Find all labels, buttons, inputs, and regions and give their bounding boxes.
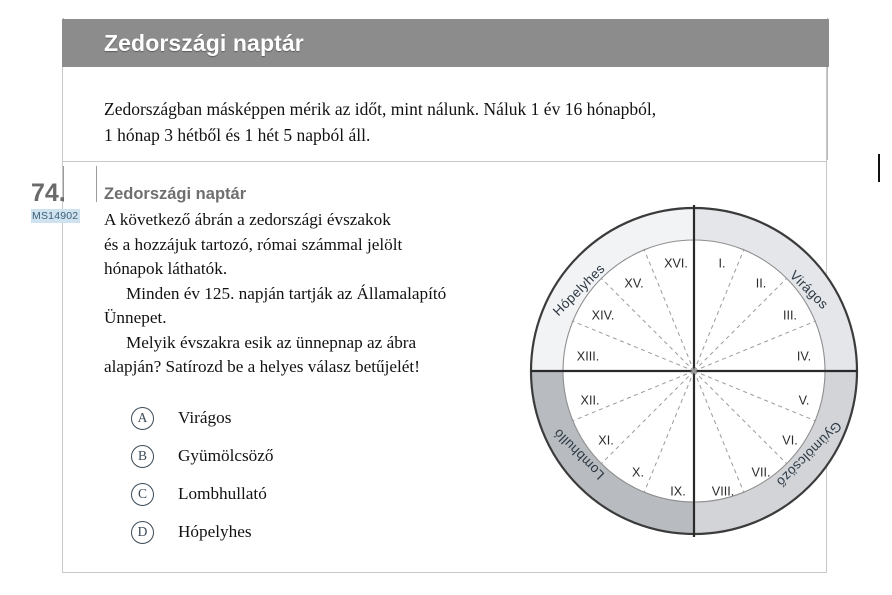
intro-line-2: 1 hónap 3 hétből és 1 hét 5 napból áll.	[104, 122, 664, 148]
worksheet-page: Zedországi naptár Zedországban másképpen…	[0, 0, 892, 595]
intro-line-1: Zedországban másképpen mérik az időt, mi…	[104, 96, 664, 122]
month-label-12: XII.	[581, 393, 600, 407]
option-label-c: Lombhullató	[178, 484, 267, 504]
task-body-line-6: Melyik évszakra esik az ünnepnap az ábra	[126, 333, 416, 352]
month-label-16: XVI.	[664, 256, 688, 270]
option-row-d[interactable]: D Hópelyhes	[131, 513, 431, 551]
month-label-8: VIII.	[712, 484, 734, 498]
month-label-15: XV.	[624, 276, 643, 290]
month-label-4: IV.	[797, 349, 811, 363]
task-body-line-7: alapján? Satírozd be a helyes válasz bet…	[104, 357, 420, 376]
answer-options: A Virágos B Gyümölcsöző C Lombhullató D …	[131, 399, 431, 551]
task-body-line-2: és a hozzájuk tartozó, római számmal jel…	[104, 235, 402, 254]
task-paragraph-3: Melyik évszakra esik az ünnepnap az ábra…	[104, 331, 524, 380]
task-body-line-3: hónapok láthatók.	[104, 259, 227, 278]
month-label-13: XIII.	[577, 349, 599, 363]
task-code-badge: MS14902	[31, 209, 80, 223]
sheet-title-bar: Zedországi naptár	[62, 19, 829, 67]
calendar-wheel-diagram: I. II. III. IV. V. VI. VII. VIII. IX. X.…	[528, 205, 860, 537]
sheet-title: Zedországi naptár	[104, 30, 304, 57]
option-bullet-a[interactable]: A	[131, 407, 154, 430]
option-bullet-b[interactable]: B	[131, 445, 154, 468]
option-bullet-c[interactable]: C	[131, 483, 154, 506]
month-label-2: II.	[756, 276, 767, 290]
month-label-1: I.	[719, 256, 726, 270]
option-label-d: Hópelyhes	[178, 522, 252, 542]
task-paragraph-2: Minden év 125. napján tartják az Államal…	[104, 282, 524, 331]
task-number-block: 74. MS14902	[31, 180, 93, 224]
task-body-line-1: A következő ábrán a zedországi évszakok	[104, 210, 391, 229]
month-label-14: XIV.	[592, 308, 615, 322]
option-label-b: Gyümölcsöző	[178, 446, 273, 466]
month-label-9: IX.	[670, 484, 685, 498]
task-body: A következő ábrán a zedországi évszakok …	[104, 208, 524, 380]
month-label-6: VI.	[782, 433, 797, 447]
task-body-line-5: Ünnepet.	[104, 308, 167, 327]
option-row-a[interactable]: A Virágos	[131, 399, 431, 437]
option-bullet-d[interactable]: D	[131, 521, 154, 544]
task-number: 74.	[31, 180, 93, 206]
month-label-5: V.	[799, 393, 810, 407]
month-label-10: X.	[632, 465, 644, 479]
page-edge-tick	[878, 154, 880, 182]
month-label-3: III.	[783, 308, 797, 322]
task-body-line-4: Minden év 125. napján tartják az Államal…	[126, 284, 446, 303]
intro-paragraph: Zedországban másképpen mérik az időt, mi…	[104, 96, 664, 148]
option-label-a: Virágos	[178, 408, 231, 428]
task-paragraph-1: A következő ábrán a zedországi évszakok …	[104, 208, 524, 282]
month-label-7: VII.	[752, 465, 771, 479]
task-column-rule-right	[96, 166, 97, 202]
option-row-b[interactable]: B Gyümölcsöző	[131, 437, 431, 475]
intro-separator	[63, 161, 827, 162]
month-label-11: XI.	[598, 433, 613, 447]
option-row-c[interactable]: C Lombhullató	[131, 475, 431, 513]
task-heading: Zedországi naptár	[104, 185, 246, 204]
